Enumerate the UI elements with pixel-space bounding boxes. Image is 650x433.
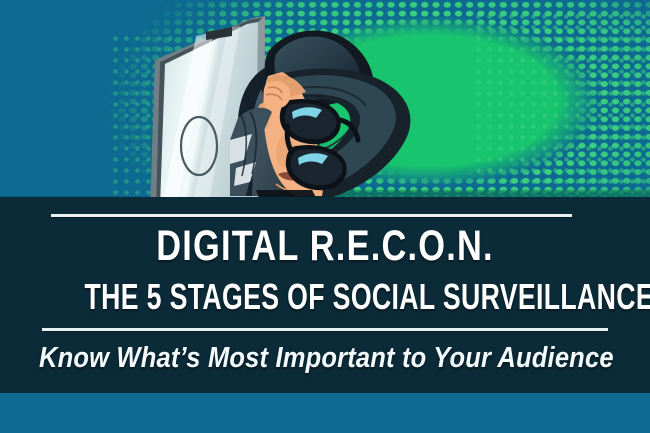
page-subtitle: THE 5 STAGES OF SOCIAL SURVEILLANCE <box>85 275 566 319</box>
infographic-banner: DIGITAL R.E.C.O.N. THE 5 STAGES OF SOCIA… <box>0 0 650 433</box>
divider-rule-top <box>51 214 572 217</box>
divider-rule-middle <box>42 328 608 331</box>
page-tagline: Know What’s Most Important to Your Audie… <box>39 339 611 377</box>
page-title: DIGITAL R.E.C.O.N. <box>65 221 585 271</box>
title-text-group: DIGITAL R.E.C.O.N. THE 5 STAGES OF SOCIA… <box>0 197 650 393</box>
bottom-color-strip <box>0 393 650 433</box>
